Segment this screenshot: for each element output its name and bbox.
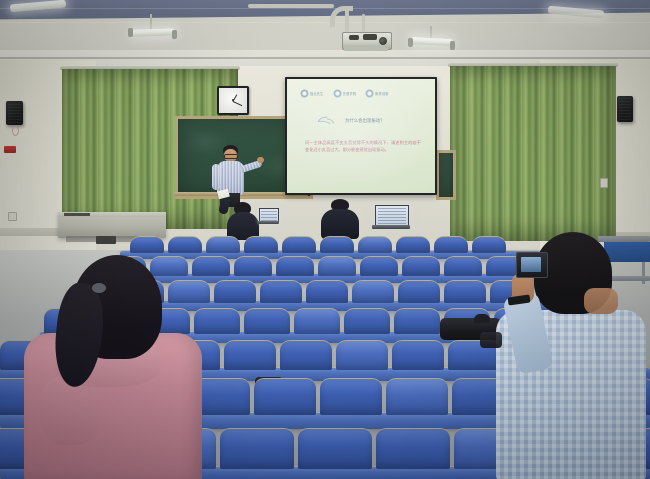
- wall-speaker-right-icon: [617, 96, 633, 122]
- seat[interactable]: [224, 340, 276, 370]
- camera-pouch[interactable]: [480, 332, 502, 348]
- light-rod: [150, 14, 152, 30]
- seat[interactable]: [336, 340, 388, 370]
- seat[interactable]: [444, 256, 482, 276]
- foreground-woman: [20, 255, 210, 479]
- wall-outlet-icon: [600, 178, 608, 188]
- neck: [584, 288, 618, 314]
- projector-mount: [362, 14, 365, 32]
- seat[interactable]: [358, 236, 392, 253]
- seat[interactable]: [320, 236, 354, 253]
- logo-mark-icon: [366, 90, 373, 97]
- laptop-left-base: [257, 221, 279, 224]
- slide-logo: 先驱学院: [334, 90, 357, 97]
- seat[interactable]: [298, 428, 372, 469]
- seat[interactable]: [320, 378, 382, 415]
- camera-icon[interactable]: [516, 252, 548, 278]
- foreground-photographer: [488, 232, 650, 479]
- seat[interactable]: [396, 236, 430, 253]
- seat[interactable]: [244, 236, 278, 253]
- wall-clock-icon: [217, 86, 249, 115]
- seat[interactable]: [206, 236, 240, 253]
- seat[interactable]: [306, 280, 348, 303]
- conduit-elbow: [330, 6, 353, 27]
- slide-logo: 教育创新: [366, 90, 389, 97]
- slide-logo-label: 先驱学院: [343, 91, 357, 96]
- seat[interactable]: [220, 428, 294, 469]
- ceiling-edge-line: [0, 57, 650, 59]
- seat[interactable]: [444, 280, 486, 303]
- speaker-bracket: [12, 125, 19, 136]
- lecture-hall-photo: 指北先生 先驱学院 教育创新 为什么会出现振动？: [0, 0, 650, 479]
- seat[interactable]: [280, 340, 332, 370]
- slide-body-text: 问一主体品高度不变丸音觉得不久的情况下，请述附主的若干变化过小丸音过大。都分能使…: [305, 139, 421, 153]
- slide-logo-row: 指北先生 先驱学院 教育创新: [301, 90, 389, 97]
- seat[interactable]: [168, 236, 202, 253]
- seat[interactable]: [376, 428, 450, 469]
- presenter: [205, 145, 261, 205]
- light-cap: [450, 41, 455, 50]
- slide-logo-label: 指北先生: [310, 91, 324, 96]
- seat[interactable]: [214, 280, 256, 303]
- seat[interactable]: [254, 378, 316, 415]
- presenter-hand: [257, 157, 264, 163]
- projector-shadow: [344, 47, 388, 51]
- glasses-icon: [224, 154, 238, 159]
- fire-safety-sign-icon: [4, 146, 16, 153]
- seat[interactable]: [282, 236, 316, 253]
- seat[interactable]: [352, 280, 394, 303]
- projector-conduit: [248, 4, 334, 8]
- chalkboard-right-section: [436, 150, 456, 200]
- ceiling-panel-line: [0, 22, 650, 23]
- seated-attendee-left: [222, 198, 264, 238]
- light-cap: [128, 28, 133, 37]
- seat[interactable]: [434, 236, 468, 253]
- slide-logo-label: 教育创新: [375, 91, 389, 96]
- seated-attendee-right: [318, 197, 364, 239]
- presenter-left-arm: [212, 164, 220, 190]
- slide-surface: 指北先生 先驱学院 教育创新 为什么会出现振动？: [287, 79, 435, 193]
- logo-mark-icon: [334, 90, 341, 97]
- seat[interactable]: [402, 256, 440, 276]
- seat[interactable]: [260, 280, 302, 303]
- seat[interactable]: [130, 236, 164, 253]
- laptop-right: [375, 205, 409, 227]
- seat[interactable]: [386, 378, 448, 415]
- wall-speaker-left-icon: [6, 101, 23, 125]
- projection-screen: 指北先生 先驱学院 教育创新 为什么会出现振动？: [285, 77, 437, 195]
- seat[interactable]: [344, 308, 390, 334]
- seat[interactable]: [244, 308, 290, 334]
- seat[interactable]: [234, 256, 272, 276]
- equipment-console: [58, 212, 166, 238]
- slide-title-row: 为什么会出现振动？: [315, 115, 385, 127]
- seat[interactable]: [360, 256, 398, 276]
- slide-title: 为什么会出现振动？: [345, 118, 385, 124]
- light-cap: [408, 38, 413, 47]
- seat[interactable]: [398, 280, 440, 303]
- attendee-suit: [321, 209, 359, 239]
- seat[interactable]: [276, 256, 314, 276]
- seat[interactable]: [294, 308, 340, 334]
- seat[interactable]: [318, 256, 356, 276]
- light-cap: [172, 30, 177, 39]
- seat[interactable]: [394, 308, 440, 334]
- laptop-right-base: [372, 225, 410, 229]
- seat[interactable]: [392, 340, 444, 370]
- hair-tie-icon: [92, 283, 106, 293]
- wall-outlet-icon: [8, 212, 17, 221]
- curtain-right: [450, 66, 616, 241]
- slide-decoration-icon: [315, 115, 341, 127]
- logo-mark-icon: [301, 90, 308, 97]
- slide-logo: 指北先生: [301, 90, 324, 97]
